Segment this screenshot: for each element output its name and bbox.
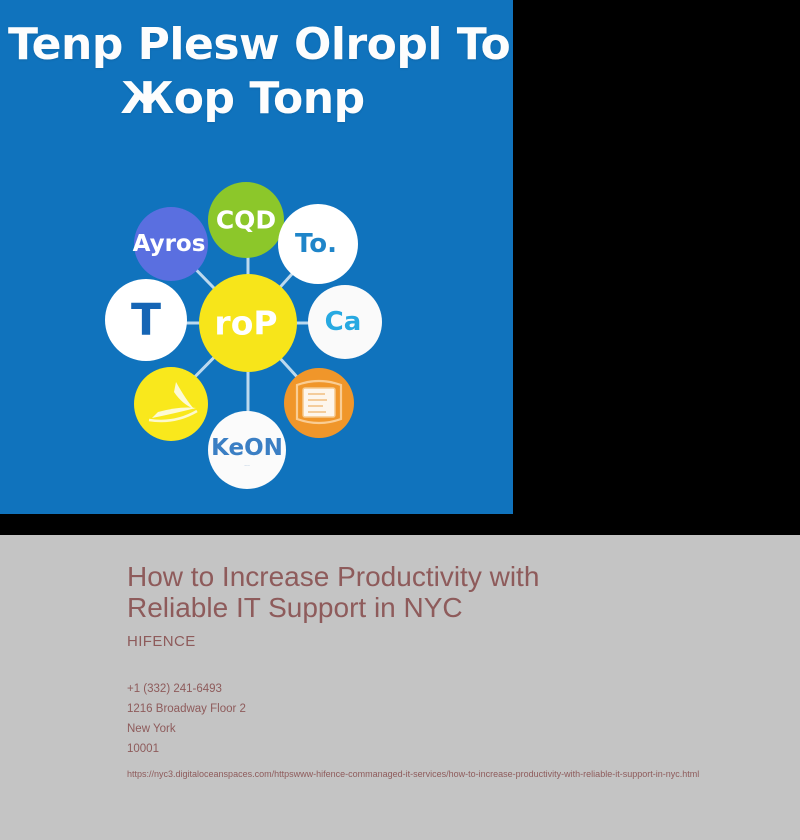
node-white-right-label: Ca — [325, 307, 362, 337]
hub-and-spoke-diagram: CQD To. Ca — [0, 168, 513, 514]
node-white-top-right: To. — [278, 204, 358, 284]
brand-name: HIFENCE — [127, 633, 747, 650]
node-purple-top-left: Ayros — [133, 207, 208, 281]
contact-street: 1216 Broadway Floor 2 — [127, 699, 747, 719]
letterbox-band — [0, 514, 800, 535]
node-purple-top-left-label: Ayros — [133, 231, 206, 257]
info-content: How to Increase Productivity with Reliab… — [127, 561, 747, 783]
center-node-label: roP — [214, 304, 277, 343]
node-white-bottom: KeON ... — [208, 411, 286, 489]
page-root: Tenp Plesw Olropl To Жop Tonp — [0, 0, 800, 840]
node-white-top-right-label: To. — [295, 229, 337, 259]
contact-city: New York — [127, 719, 747, 739]
info-panel: How to Increase Productivity with Reliab… — [0, 535, 800, 840]
contact-phone: +1 (332) 241-6493 — [127, 679, 747, 699]
node-green-top: CQD — [208, 182, 284, 258]
hero-headline-line-1: Tenp Plesw Olropl To — [0, 18, 513, 72]
contact-zip: 10001 — [127, 739, 747, 759]
node-white-bottom-subtext: ... — [244, 461, 250, 468]
hero-right-letterbox — [513, 0, 800, 514]
hero-headline: Tenp Plesw Olropl To Жop Tonp — [0, 18, 513, 125]
node-white-bottom-label: KeON — [211, 435, 283, 461]
node-white-left-label: T — [131, 295, 161, 346]
source-url[interactable]: https://nyc3.digitaloceanspaces.com/http… — [127, 765, 717, 783]
center-node: roP — [199, 274, 297, 372]
page-title: How to Increase Productivity with Reliab… — [127, 561, 627, 624]
node-green-top-label: CQD — [216, 206, 276, 235]
hero-image: Tenp Plesw Olropl To Жop Tonp — [0, 0, 513, 514]
node-orange-bottom-right — [284, 368, 354, 438]
node-yellow-bottom-left — [134, 367, 208, 441]
node-white-left: T — [105, 279, 187, 361]
node-white-right: Ca — [308, 285, 382, 359]
hero-headline-line-2: Жop Tonp — [0, 72, 513, 126]
contact-block: +1 (332) 241-6493 1216 Broadway Floor 2 … — [127, 679, 747, 759]
